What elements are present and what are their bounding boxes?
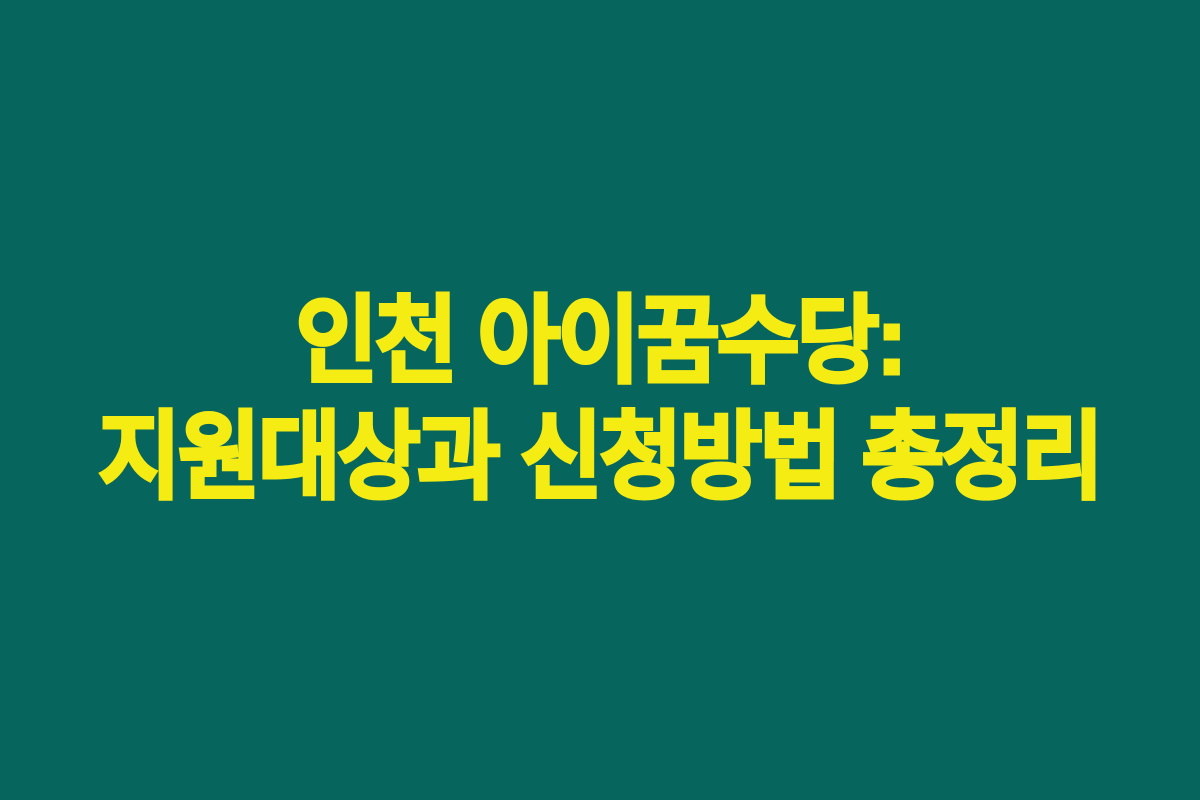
title-line-1: 인천 아이꿈수당: — [53, 285, 1147, 397]
thumbnail-card: 인천 아이꿈수당: 지원대상과 신청방법 총정리 — [0, 0, 1200, 800]
title-line-2: 지원대상과 신청방법 총정리 — [53, 402, 1147, 514]
title-block: 인천 아이꿈수당: 지원대상과 신청방법 총정리 — [0, 285, 1200, 513]
